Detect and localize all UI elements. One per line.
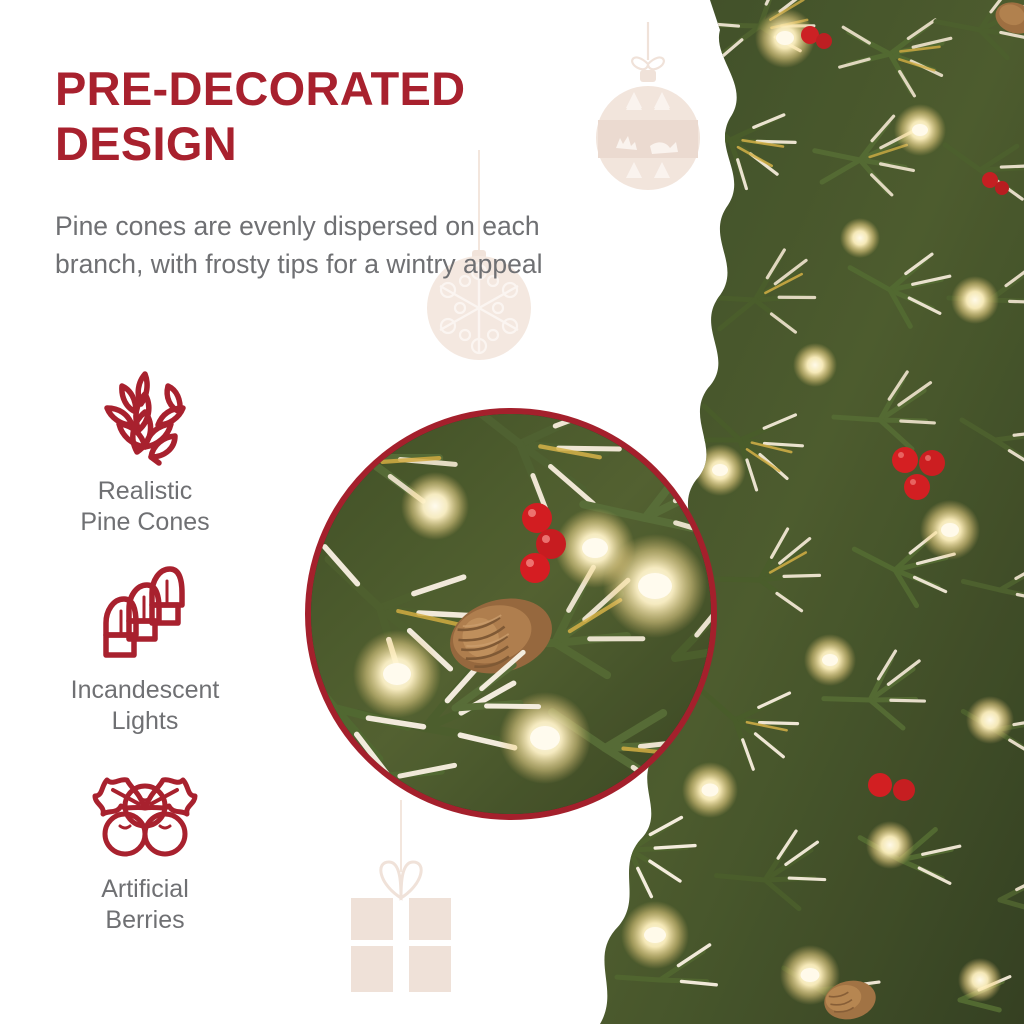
- feature-list: Realistic Pine Cones: [0, 360, 290, 957]
- holly-berries-icon: [0, 758, 290, 870]
- feature-label: Realistic Pine Cones: [0, 476, 290, 537]
- feature-item-incandescent-lights: Incandescent Lights: [0, 559, 290, 736]
- ornament-ball-reindeer-watermark: [588, 20, 708, 210]
- feature-label: Incandescent Lights: [0, 675, 290, 736]
- pine-cone-icon: [0, 360, 290, 472]
- page-subtitle: Pine cones are evenly dispersed on each …: [55, 208, 555, 283]
- close-up-detail-circle: [305, 408, 717, 820]
- product-feature-banner: PRE-DECORATED DESIGN Pine cones are even…: [0, 0, 1024, 1024]
- string-lights-icon: [0, 559, 290, 671]
- page-title: PRE-DECORATED DESIGN: [55, 62, 555, 171]
- feature-item-artificial-berries: Artificial Berries: [0, 758, 290, 935]
- feature-label: Artificial Berries: [0, 874, 290, 935]
- feature-item-pine-cones: Realistic Pine Cones: [0, 360, 290, 537]
- close-up-detail-image: [305, 408, 717, 820]
